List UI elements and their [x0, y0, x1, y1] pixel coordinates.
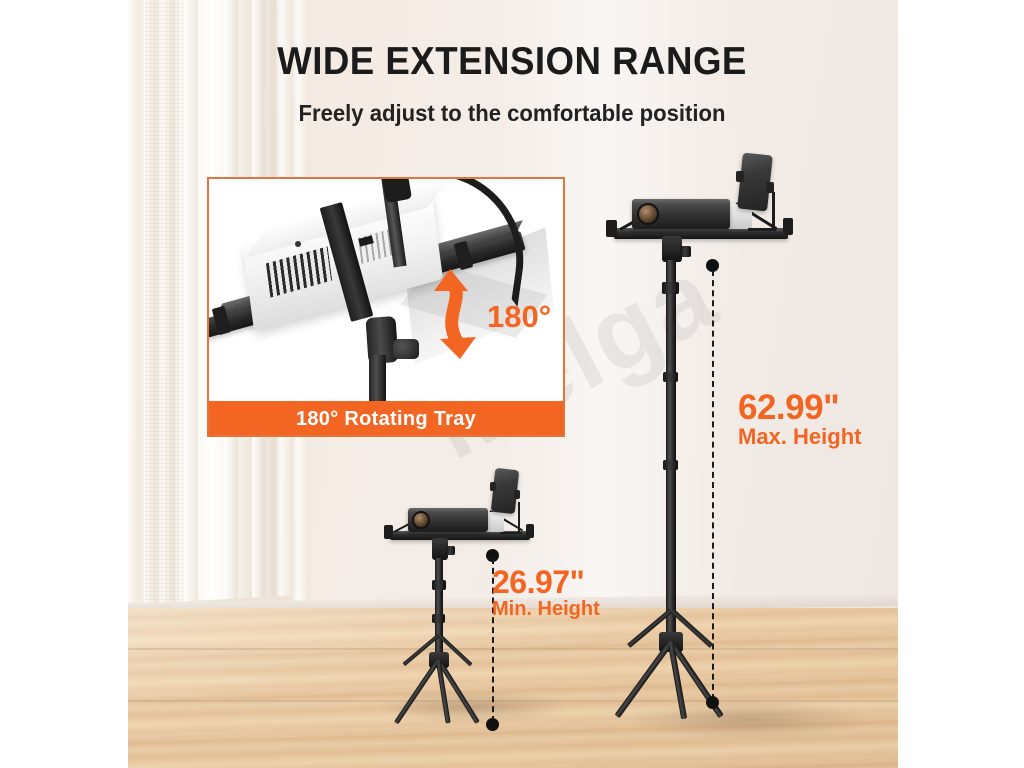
- telescoping-column: [666, 260, 676, 650]
- inset-photo: 180°: [209, 179, 563, 401]
- angle-label: 180°: [487, 299, 551, 335]
- inset-caption-text: 180° Rotating Tray: [296, 408, 476, 431]
- tray-left-lip: [384, 525, 393, 539]
- min-height-value: 26.97": [492, 566, 600, 599]
- phone-holder-arm-base: [748, 228, 776, 231]
- inset-projector-sensor: [295, 241, 301, 247]
- column-collar: [432, 614, 445, 623]
- tripod-leg: [394, 659, 441, 725]
- phone-clamp-lower: [514, 490, 520, 499]
- telescoping-column: [435, 558, 443, 666]
- inset-lock-knob: [393, 339, 419, 359]
- tripod-leg: [614, 640, 673, 718]
- max-height-caption: Max. Height: [738, 426, 861, 449]
- measure-dashed-line: [712, 270, 714, 700]
- tilt-knob: [446, 546, 455, 555]
- phone-holder-arm: [518, 502, 520, 534]
- projector-lens: [637, 203, 659, 225]
- tilt-knob: [680, 246, 691, 257]
- tray-right-lip: [526, 524, 534, 538]
- column-collar: [432, 580, 446, 590]
- projector-lens: [412, 511, 430, 529]
- measure-floor-dot: [486, 718, 499, 731]
- phone-clamp-upper: [490, 482, 496, 491]
- rotating-tray-inset-card: 180° 180° Rotating Tray: [207, 177, 565, 437]
- inset-lower-post: [369, 355, 386, 401]
- min-height-measurement: 26.97" Min. Height: [492, 566, 600, 620]
- measure-floor-dot: [706, 696, 719, 709]
- rotate-double-arrow-icon: [424, 267, 496, 363]
- phone-clamp-upper: [736, 171, 744, 182]
- max-height-value: 62.99": [738, 390, 861, 426]
- page-title: WIDE EXTENSION RANGE: [31, 40, 994, 84]
- column-collar: [663, 372, 678, 382]
- column-collar: [662, 282, 679, 294]
- phone-holder-arm-base: [500, 532, 522, 534]
- page-subtitle: Freely adjust to the comfortable positio…: [20, 100, 1003, 127]
- phone-clamp-lower: [766, 182, 774, 193]
- tray-left-lip: [606, 220, 617, 237]
- tray-right-lip: [783, 218, 793, 235]
- inset-caption-bar: 180° Rotating Tray: [209, 401, 563, 437]
- column-collar: [663, 460, 678, 470]
- phone-holder-arm: [772, 192, 775, 230]
- tray-mount-head: [662, 236, 682, 262]
- min-height-caption: Min. Height: [492, 599, 600, 620]
- product-feature-image: WIDE EXTENSION RANGE Freely adjust to th…: [0, 0, 1024, 768]
- max-height-measurement: 62.99" Max. Height: [738, 390, 861, 449]
